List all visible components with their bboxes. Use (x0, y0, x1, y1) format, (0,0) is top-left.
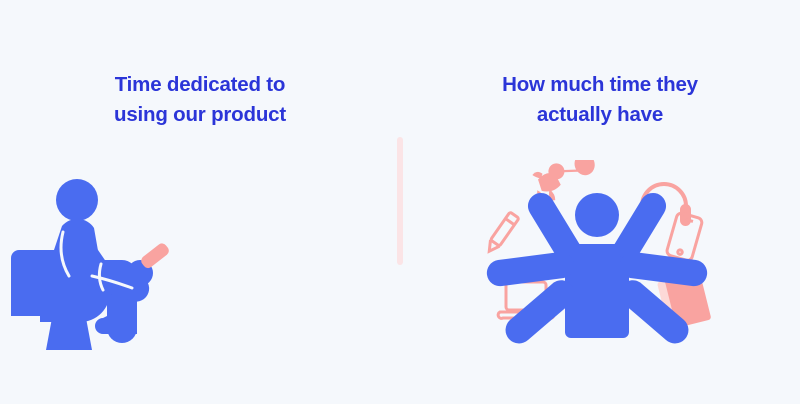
figure-torso (565, 244, 629, 338)
smartphone-icon (139, 241, 171, 270)
panel-right-title-line-2: actually have (400, 100, 800, 130)
panel-right: How much time they actually have (400, 0, 800, 404)
infographic-canvas: Time dedicated to using our product (0, 0, 800, 404)
panel-left-title-line-1: Time dedicated to (0, 70, 400, 100)
phone-speaker (685, 219, 693, 221)
illustration-person-on-toilet (0, 160, 400, 360)
pencil-band (505, 219, 514, 225)
figure-head (575, 193, 619, 237)
figure-arm-upper-right (614, 193, 666, 260)
balloon (572, 160, 598, 178)
person-head (56, 179, 98, 221)
panel-right-title-line-1: How much time they (400, 70, 800, 100)
phone-home-button (677, 249, 682, 254)
pencil-icon (485, 212, 519, 254)
panel-left-title-line-2: using our product (0, 100, 400, 130)
multitasking-figure (487, 193, 707, 343)
pencil-body (490, 212, 519, 246)
panel-right-title: How much time they actually have (400, 70, 800, 129)
panel-left-title: Time dedicated to using our product (0, 70, 400, 129)
panel-left: Time dedicated to using our product (0, 0, 400, 404)
figure-arm-upper-left (528, 193, 580, 260)
person-foot (95, 316, 137, 334)
illustration-multitasking-person (400, 160, 800, 360)
